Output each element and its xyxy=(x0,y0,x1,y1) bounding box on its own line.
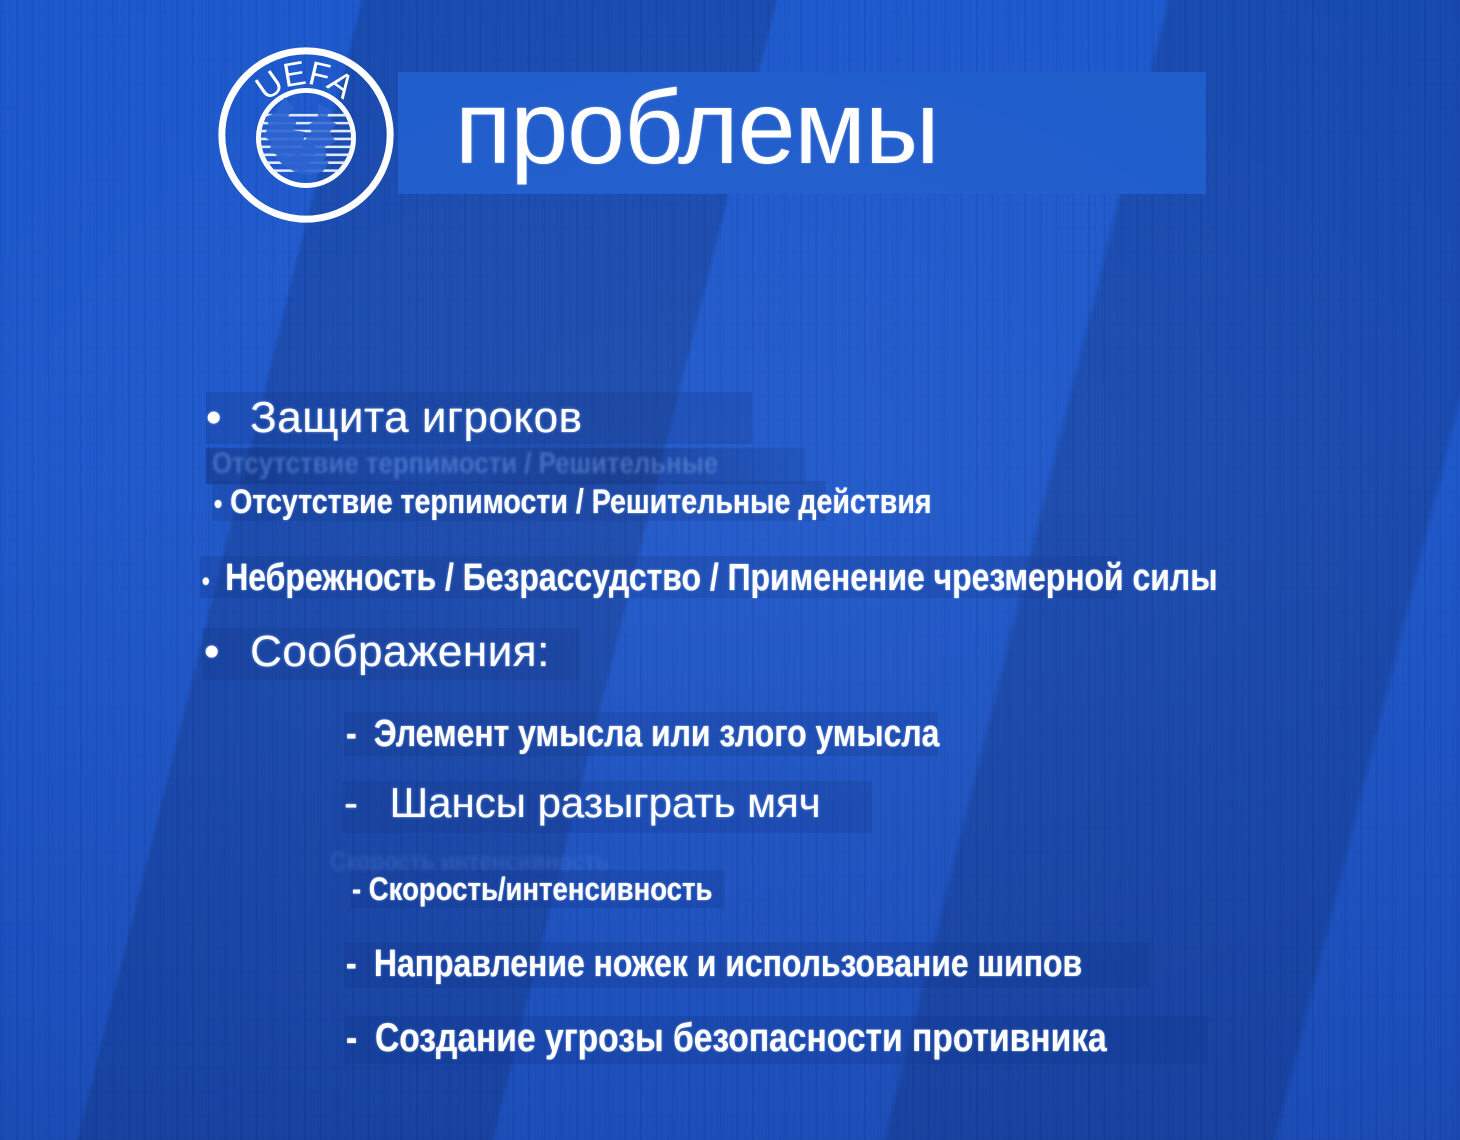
bullet-marker: • xyxy=(204,627,219,676)
subbullet-leg-direction-studs: - Направление ножек и использование шипо… xyxy=(346,943,1082,986)
bullet-tolerance: • Отсутствие терпимости / Решительные де… xyxy=(214,483,932,522)
dash-marker: - xyxy=(352,871,361,907)
subbullet-intent: - Элемент умысла или злого умысла xyxy=(346,713,939,756)
page-title: проблемы xyxy=(455,76,939,180)
bullet-label: Защита игроков xyxy=(250,393,582,442)
bullet-marker: • xyxy=(206,393,221,442)
uefa-logo-icon: UEFA xyxy=(207,36,405,234)
dash-marker: - xyxy=(344,779,358,826)
dash-marker: - xyxy=(346,713,357,755)
subbullet-chance-to-play-ball: - Шансы разыграть мяч xyxy=(344,779,821,827)
bullet-protection: • Защита игроков xyxy=(206,393,582,443)
bullet-marker: • xyxy=(214,488,222,519)
bullet-negligence: • Небрежность / Безрассудство / Применен… xyxy=(202,557,1217,600)
subbullet-speed-intensity: - Скорость/интенсивность xyxy=(352,871,712,908)
dash-marker: - xyxy=(346,1016,357,1060)
slide-content: UEFA проблемы • Защита игроков Отсутстви… xyxy=(0,0,1460,1140)
subbullet-label: Направление ножек и использование шипов xyxy=(374,943,1082,985)
dash-marker: - xyxy=(346,943,357,985)
compression-ghost-text: Отсутствие терпимости / Решительные xyxy=(212,447,718,481)
bullet-label: Соображения: xyxy=(250,627,550,676)
subbullet-label: Скорость/интенсивность xyxy=(369,871,713,907)
presentation-slide: UEFA проблемы • Защита игроков Отсутстви… xyxy=(0,0,1460,1140)
bullet-label: Отсутствие терпимости / Решительные дейс… xyxy=(230,483,931,521)
bullet-marker: • xyxy=(202,566,210,596)
bullet-considerations: • Соображения: xyxy=(204,627,550,677)
subbullet-label: Создание угрозы безопасности противника xyxy=(375,1016,1107,1060)
bullet-label: Небрежность / Безрассудство / Применение… xyxy=(225,557,1217,599)
subbullet-label: Элемент умысла или злого умысла xyxy=(374,713,940,755)
subbullet-endangering-safety: - Создание угрозы безопасности противник… xyxy=(346,1016,1107,1061)
subbullet-label: Шансы разыграть мяч xyxy=(390,779,821,826)
